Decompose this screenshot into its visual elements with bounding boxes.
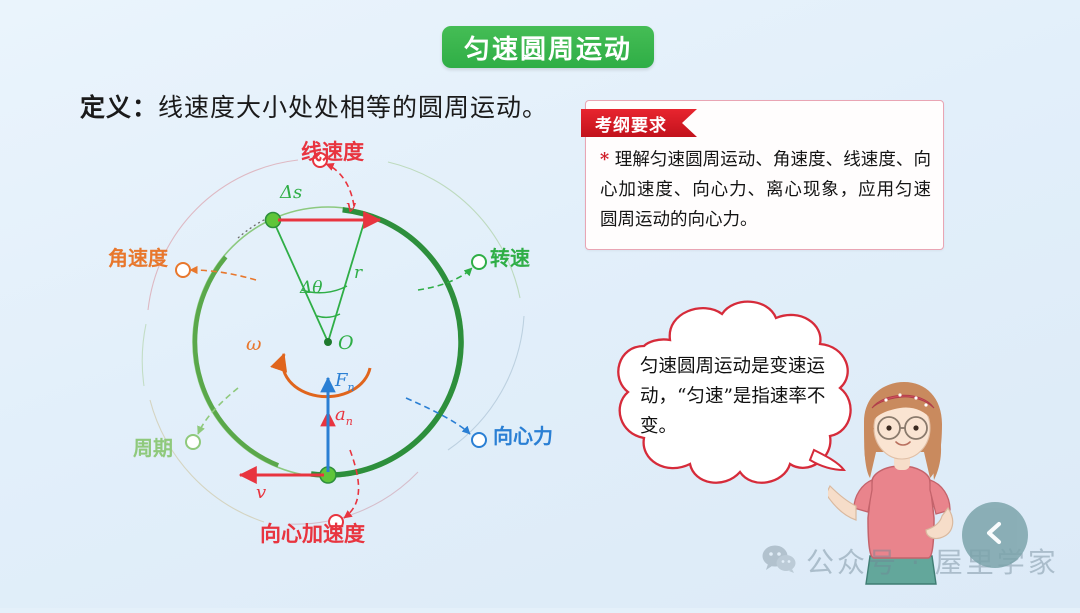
callout-label-linear-velocity: 线速度 xyxy=(301,136,364,166)
callout-label-period: 周期 xyxy=(133,432,173,461)
angle-label: Δθ xyxy=(299,278,323,298)
radius-label: r xyxy=(354,263,363,283)
exam-requirement-card: 考纲要求 * 理解匀速圆周运动、角速度、线速度、向心加速度、向心力、离心现象，应… xyxy=(585,100,944,250)
callout-label-centripetal-acceleration: 向心加速度 xyxy=(260,518,365,548)
callout-label-angular-velocity: 角速度 xyxy=(108,242,168,271)
definition-text: 线速度大小处处相等的圆周运动。 xyxy=(158,93,548,122)
wechat-icon xyxy=(762,544,796,579)
definition-label: 定义： xyxy=(80,93,158,122)
bullet-period xyxy=(186,435,200,449)
acceleration-label: an xyxy=(335,404,353,428)
circular-motion-diagram: Δθ r Δs O ω v v an Fn xyxy=(88,120,568,560)
force-label: Fn xyxy=(334,370,355,394)
arc-length-label: Δs xyxy=(279,182,302,203)
slide-title-badge: 匀速圆周运动 xyxy=(442,26,654,68)
center-point xyxy=(324,338,332,346)
exam-requirement-title: 考纲要求 xyxy=(595,111,667,136)
velocity-label-top: v xyxy=(346,196,356,217)
diagram-svg: Δθ r Δs O ω v v an Fn xyxy=(88,120,568,560)
omega-arrow xyxy=(283,354,370,397)
omega-label: ω xyxy=(246,333,262,355)
velocity-label-bottom: v xyxy=(256,482,266,503)
exam-requirement-ribbon: 考纲要求 xyxy=(581,109,697,137)
speech-bubble-text: 匀速圆周运动是变速运动，“匀速”是指速率不变。 xyxy=(640,352,830,442)
leader-angular-velocity xyxy=(190,270,256,280)
bullet-angular-velocity xyxy=(176,263,190,277)
back-button[interactable] xyxy=(962,502,1028,568)
definition-line: 定义：线速度大小处处相等的圆周运动。 xyxy=(80,88,548,124)
bullet-rotational-speed xyxy=(472,255,486,269)
callout-label-centripetal-force: 向心力 xyxy=(493,420,553,449)
bullet-centripetal-force xyxy=(472,433,486,447)
center-label: O xyxy=(338,332,354,354)
callout-label-rotational-speed: 转速 xyxy=(490,242,530,271)
exam-requirement-text: 理解匀速圆周运动、角速度、线速度、向心加速度、向心力、离心现象，应用匀速圆周运动… xyxy=(600,150,931,230)
page-title: 匀速圆周运动 xyxy=(464,29,632,66)
exam-requirement-body: * 理解匀速圆周运动、角速度、线速度、向心加速度、向心力、离心现象，应用匀速圆周… xyxy=(600,145,931,235)
leader-centripetal-acceleration xyxy=(344,450,359,518)
bullet-star-icon: * xyxy=(600,150,609,170)
slide-canvas: 匀速圆周运动 定义：线速度大小处处相等的圆周运动。 考纲要求 * 理解匀速圆周运… xyxy=(0,0,1080,608)
chevron-left-icon xyxy=(980,518,1010,553)
